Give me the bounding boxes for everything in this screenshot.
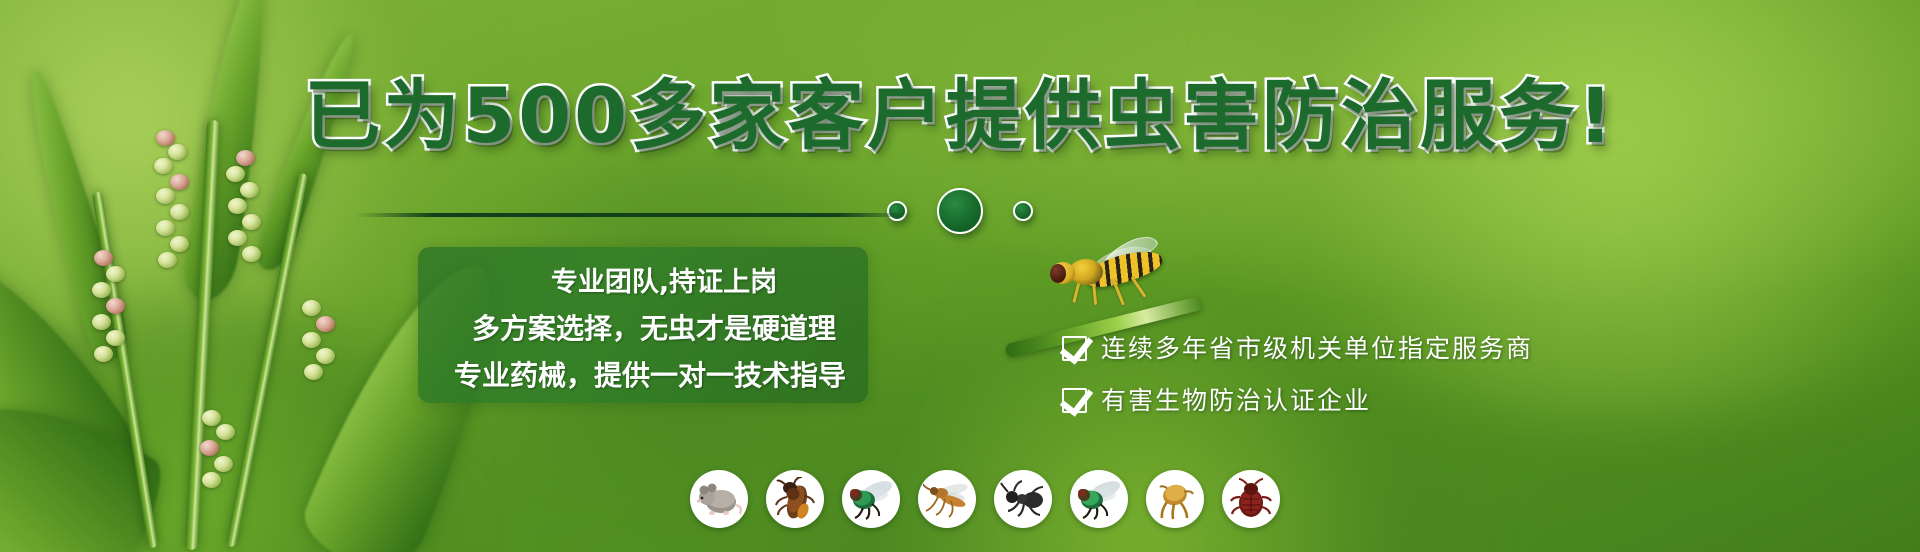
pest-icon-row [690,470,1280,528]
ant-icon[interactable] [994,470,1052,528]
credential-label: 连续多年省市级机关单位指定服务商 [1101,336,1533,361]
checkbox-checked-icon [1062,336,1087,361]
rodent-icon[interactable] [690,470,748,528]
small-dot [1013,201,1033,221]
flower-spike [200,410,260,552]
feature-line-2: 多方案选择，无虫才是硬道理 [400,307,900,347]
credential-item: 连续多年省市级机关单位指定服务商 [1062,336,1533,361]
credential-list: 连续多年省市级机关单位指定服务商 有害生物防治认证企业 [1062,336,1533,413]
large-dot [937,188,983,234]
feature-panel-text: 专业团队,持证上岗 多方案选择，无虫才是硬道理 专业药械，提供一对一技术指导 [400,250,900,402]
bedbug-icon[interactable] [1222,470,1280,528]
cockroach-icon[interactable] [766,470,824,528]
flower-spike [90,250,150,400]
blowfly-icon[interactable] [1070,470,1128,528]
flower-spike [298,300,358,450]
hoverfly-illustration [1045,247,1165,305]
checkbox-checked-icon [1062,388,1087,413]
compound-eye-shape [1050,264,1066,283]
mosquito-icon[interactable] [918,470,976,528]
pest-control-hero-banner: 已为500多家客户提供虫害防治服务! 专业团队,持证上岗 多方案选择，无虫才是硬… [0,0,1920,552]
horizontal-rule [355,213,915,217]
feature-line-3: 专业药械，提供一对一技术指导 [400,354,900,394]
credential-item: 有害生物防治认证企业 [1062,388,1533,413]
banner-headline: 已为500多家客户提供虫害防治服务! [0,78,1920,154]
decorative-dot-group [0,188,1920,234]
banner-headline-text: 已为500多家客户提供虫害防治服务! [304,71,1615,160]
fly-icon[interactable] [842,470,900,528]
feature-line-1: 专业团队,持证上岗 [400,260,900,299]
flea-icon[interactable] [1146,470,1204,528]
small-dot [887,201,907,221]
leg-shape [1131,276,1147,298]
credential-label: 有害生物防治认证企业 [1101,388,1371,413]
